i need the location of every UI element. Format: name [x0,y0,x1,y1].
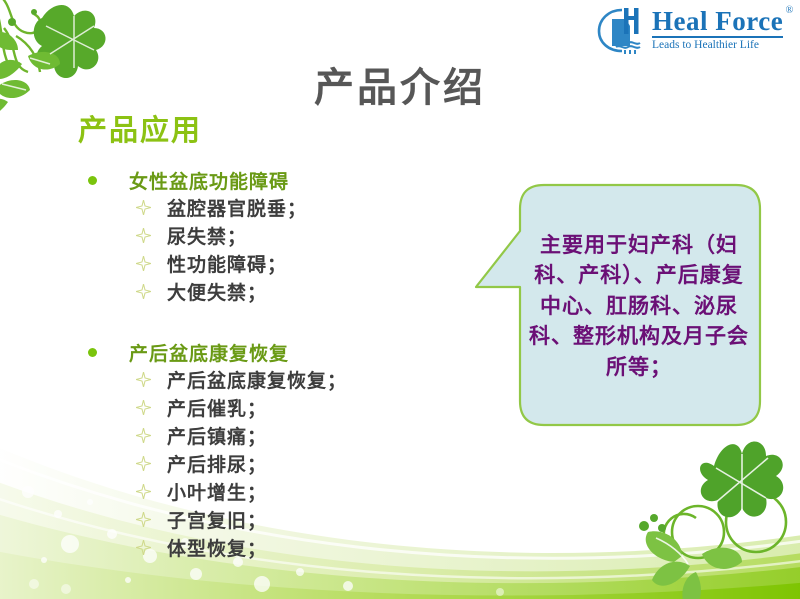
page-title: 产品介绍 [0,55,800,113]
list-item-label: 产后盆底康复恢复； [167,366,347,393]
application-group-0: 女性盆底功能障碍 盆腔器官脱垂； 尿失禁； [88,167,448,305]
list-item: 产后盆底康复恢复； [136,365,448,393]
group-heading: 产后盆底康复恢复 [88,339,448,365]
diamond-bullet-icon [136,372,151,387]
group-label: 女性盆底功能障碍 [129,167,289,194]
diamond-bullet-icon [136,428,151,443]
group-heading: 女性盆底功能障碍 [88,167,448,193]
list-item-label: 产后催乳； [167,394,267,421]
group-label: 产后盆底康复恢复 [129,339,289,366]
list-item: 尿失禁； [136,221,448,249]
list-item-label: 性功能障碍； [167,250,287,277]
list-item-label: 尿失禁； [167,222,247,249]
circle-bullet-icon [88,176,97,185]
list-item-label: 盆腔器官脱垂； [167,194,307,221]
green-flower-leaves-decoration [570,414,800,599]
section-title: 产品应用 [78,107,202,149]
slide-canvas: Heal Force ® Leads to Healthier Life 产品介… [0,0,800,599]
diamond-bullet-icon [136,200,151,215]
list-item-label: 产后镇痛； [167,422,267,449]
diamond-bullet-icon [136,512,151,527]
application-list: 女性盆底功能障碍 盆腔器官脱垂； 尿失禁； [88,167,448,565]
diamond-bullet-icon [136,400,151,415]
heal-force-logo: Heal Force ® Leads to Healthier Life [596,4,792,56]
list-item: 体型恢复； [136,533,448,561]
diamond-bullet-icon [136,540,151,555]
circle-bullet-icon [88,348,97,357]
diamond-bullet-icon [136,456,151,471]
list-item-label: 小叶增生； [167,478,267,505]
list-item: 产后排尿； [136,449,448,477]
logo-brand-name: Heal Force [652,8,783,38]
diamond-bullet-icon [136,284,151,299]
list-item: 大便失禁； [136,277,448,305]
list-item: 盆腔器官脱垂； [136,193,448,221]
heal-force-ship-logo-icon [596,6,650,54]
diamond-bullet-icon [136,228,151,243]
list-item-label: 子宫复旧； [167,506,267,533]
list-item-label: 大便失禁； [167,278,267,305]
list-item: 产后镇痛； [136,421,448,449]
sub-item-list: 盆腔器官脱垂； 尿失禁； 性功能障碍； [88,193,448,305]
callout-balloon: 主要用于妇产科（妇科、产科）、产后康复中心、肛肠科、泌尿科、整形机构及月子会所等… [474,183,762,427]
logo-tagline: Leads to Healthier Life [652,40,783,52]
application-group-1: 产后盆底康复恢复 产后盆底康复恢复； 产后催乳； [88,339,448,561]
sub-item-list: 产后盆底康复恢复； 产后催乳； 产后镇痛； [88,365,448,561]
list-item: 产后催乳； [136,393,448,421]
callout-text: 主要用于妇产科（妇科、产科）、产后康复中心、肛肠科、泌尿科、整形机构及月子会所等… [524,199,754,413]
list-item: 小叶增生； [136,477,448,505]
registered-trademark-icon: ® [786,6,794,16]
list-item: 子宫复旧； [136,505,448,533]
diamond-bullet-icon [136,256,151,271]
list-item: 性功能障碍； [136,249,448,277]
list-item-label: 体型恢复； [167,534,267,561]
diamond-bullet-icon [136,484,151,499]
list-item-label: 产后排尿； [167,450,267,477]
